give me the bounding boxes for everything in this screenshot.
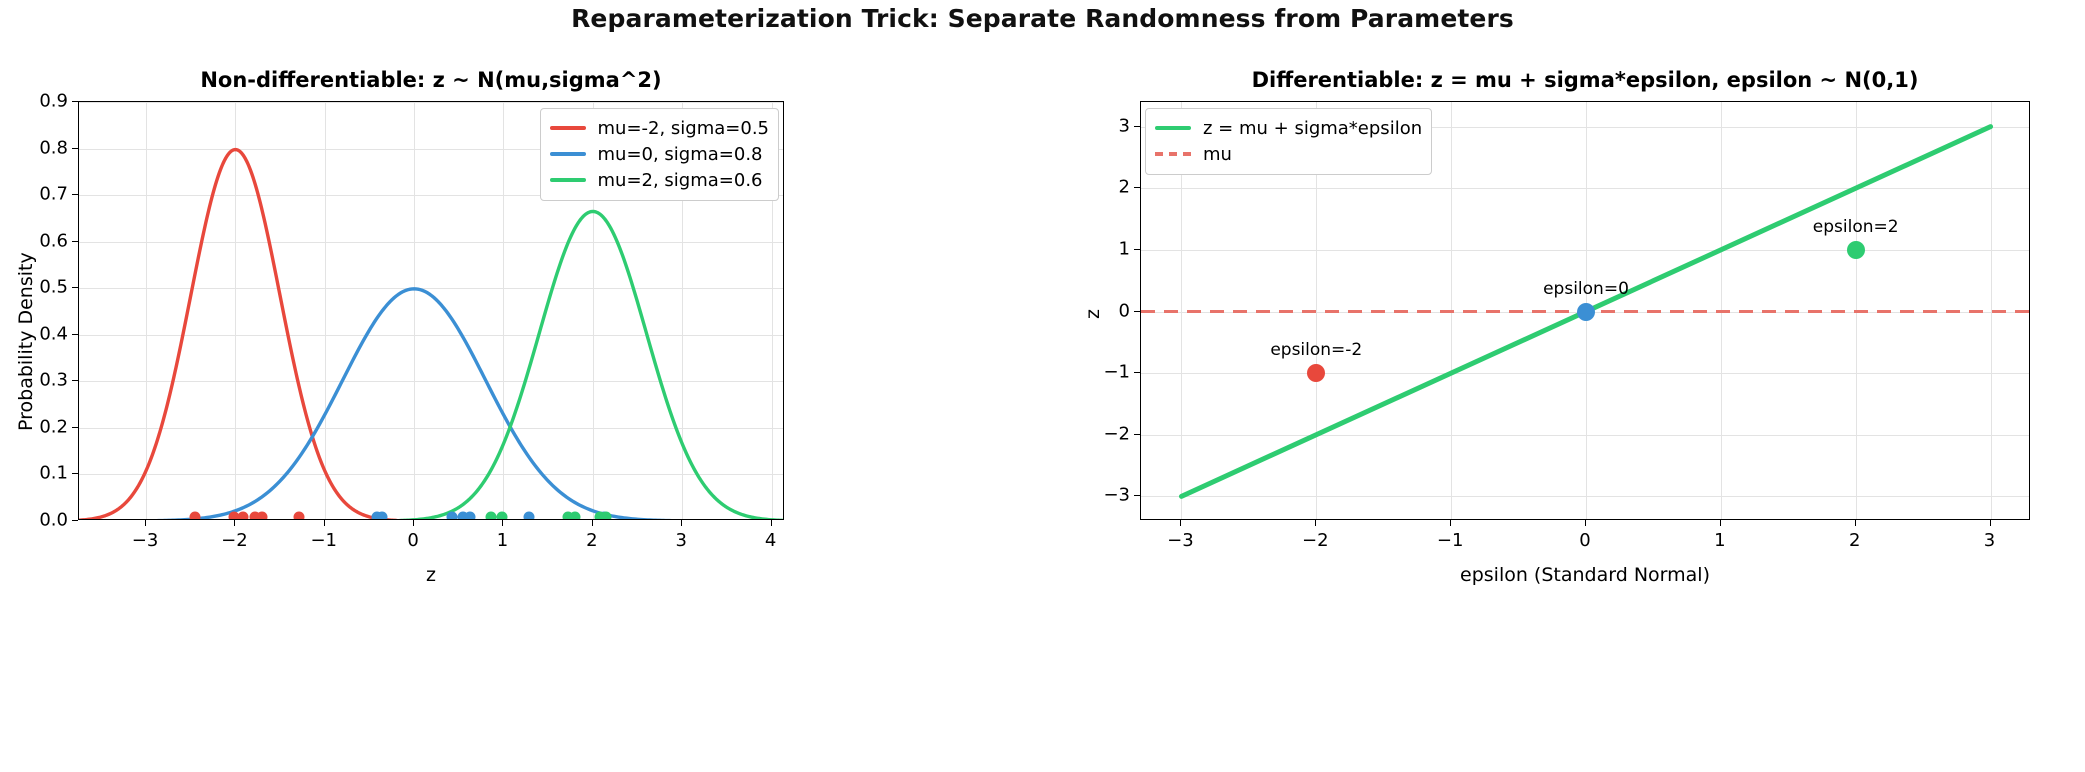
x-tick-label: −2 <box>221 530 248 551</box>
y-tick-label: 3 <box>1070 115 1130 136</box>
x-tick-label: 1 <box>497 530 508 551</box>
legend-item-red: mu=-2, sigma=0.5 <box>550 115 770 141</box>
y-tick-label: 2 <box>1070 177 1130 198</box>
x-tick <box>324 520 325 526</box>
x-tick-label: 0 <box>1579 530 1590 551</box>
x-tick <box>1720 520 1721 526</box>
y-tick-label: 0.9 <box>8 91 68 112</box>
x-tick-label: −1 <box>310 530 337 551</box>
epsilon-point-1 <box>1577 303 1595 321</box>
legend-label-blue: mu=0, sigma=0.8 <box>598 144 763 165</box>
left-panel-title: Non-differentiable: z ~ N(mu,sigma^2) <box>78 68 784 92</box>
sample-dot-red <box>190 512 201 520</box>
y-tick-label: 0.1 <box>8 463 68 484</box>
epsilon-annotation-0: epsilon=-2 <box>1270 340 1362 360</box>
y-tick-label: 0.6 <box>8 230 68 251</box>
y-tick <box>1134 495 1140 496</box>
epsilon-point-2 <box>1847 241 1865 259</box>
y-tick <box>72 194 78 195</box>
sample-dot-red <box>237 512 248 520</box>
y-tick-label: 0.8 <box>8 137 68 158</box>
sample-dot-blue <box>376 512 387 520</box>
x-tick <box>681 520 682 526</box>
legend-label-red: mu=-2, sigma=0.5 <box>598 118 770 139</box>
figure: Reparameterization Trick: Separate Rando… <box>0 0 2085 772</box>
legend-swatch-red <box>550 126 586 130</box>
sample-dot-green <box>496 512 507 520</box>
x-tick-label: −3 <box>1167 530 1194 551</box>
x-tick <box>502 520 503 526</box>
density-curve-blue <box>157 289 672 520</box>
sample-dot-green <box>569 512 580 520</box>
legend-item-mu: mu <box>1155 141 1422 167</box>
right-panel-title: Differentiable: z = mu + sigma*epsilon, … <box>1140 68 2030 92</box>
figure-suptitle: Reparameterization Trick: Separate Rando… <box>0 4 2085 33</box>
x-tick <box>771 520 772 526</box>
y-tick-label: −2 <box>1070 423 1130 444</box>
x-tick <box>1180 520 1181 526</box>
y-tick-label: −3 <box>1070 485 1130 506</box>
y-tick-label: 0.5 <box>8 277 68 298</box>
legend-item-line: z = mu + sigma*epsilon <box>1155 115 1422 141</box>
left-panel: Non-differentiable: z ~ N(mu,sigma^2) z … <box>78 101 784 520</box>
y-tick-label: 0.4 <box>8 323 68 344</box>
y-tick <box>72 380 78 381</box>
density-curve-green <box>400 211 784 520</box>
sample-dot-red <box>293 512 304 520</box>
x-tick <box>234 520 235 526</box>
y-tick <box>1134 311 1140 312</box>
left-legend: mu=-2, sigma=0.5 mu=0, sigma=0.8 mu=2, s… <box>540 108 780 201</box>
x-tick-label: −2 <box>1302 530 1329 551</box>
y-tick <box>72 334 78 335</box>
y-tick <box>1134 249 1140 250</box>
x-tick-label: 4 <box>765 530 776 551</box>
sample-dot-blue <box>446 512 457 520</box>
y-tick-label: 0 <box>1070 300 1130 321</box>
x-tick <box>1585 520 1586 526</box>
x-tick <box>1315 520 1316 526</box>
x-tick-label: 3 <box>675 530 686 551</box>
y-tick <box>1134 434 1140 435</box>
sample-dot-green <box>485 512 496 520</box>
y-tick-label: 0.3 <box>8 370 68 391</box>
left-xaxis-label: z <box>78 564 784 586</box>
y-tick <box>72 473 78 474</box>
sample-dot-blue <box>523 512 534 520</box>
y-tick-label: 0.0 <box>8 510 68 531</box>
right-panel: Differentiable: z = mu + sigma*epsilon, … <box>1140 101 2030 520</box>
x-tick-label: 1 <box>1714 530 1725 551</box>
x-tick <box>1990 520 1991 526</box>
x-tick-label: 2 <box>1849 530 1860 551</box>
sample-dot-green <box>601 512 612 520</box>
legend-swatch-blue <box>550 152 586 156</box>
legend-swatch-green <box>550 178 586 182</box>
legend-swatch-mu <box>1155 152 1191 156</box>
x-tick-label: 0 <box>407 530 418 551</box>
y-tick <box>72 241 78 242</box>
y-tick <box>72 427 78 428</box>
y-tick-label: 0.7 <box>8 184 68 205</box>
x-tick-label: −3 <box>132 530 159 551</box>
legend-label-green: mu=2, sigma=0.6 <box>598 170 763 191</box>
y-tick <box>72 287 78 288</box>
right-legend: z = mu + sigma*epsilon mu <box>1145 108 1432 175</box>
y-tick <box>1134 126 1140 127</box>
y-tick <box>72 101 78 102</box>
x-tick <box>1450 520 1451 526</box>
x-tick-label: 3 <box>1984 530 1995 551</box>
density-curve-red <box>78 150 396 520</box>
sample-dot-blue <box>464 512 475 520</box>
y-tick <box>1134 372 1140 373</box>
y-tick <box>72 148 78 149</box>
epsilon-point-0 <box>1307 364 1325 382</box>
x-tick <box>145 520 146 526</box>
x-tick <box>592 520 593 526</box>
legend-swatch-line <box>1155 126 1191 130</box>
right-xaxis-label: epsilon (Standard Normal) <box>1140 564 2030 586</box>
legend-item-green: mu=2, sigma=0.6 <box>550 167 770 193</box>
x-tick <box>1855 520 1856 526</box>
x-tick-label: −1 <box>1437 530 1464 551</box>
legend-label-line: z = mu + sigma*epsilon <box>1203 118 1422 139</box>
legend-label-mu: mu <box>1203 144 1232 165</box>
y-tick <box>1134 187 1140 188</box>
x-tick-label: 2 <box>586 530 597 551</box>
legend-item-blue: mu=0, sigma=0.8 <box>550 141 770 167</box>
epsilon-annotation-2: epsilon=2 <box>1813 217 1899 237</box>
y-tick-label: 0.2 <box>8 416 68 437</box>
sample-dot-red <box>257 512 268 520</box>
y-tick-label: 1 <box>1070 238 1130 259</box>
y-tick-label: −1 <box>1070 362 1130 383</box>
y-tick <box>72 520 78 521</box>
epsilon-annotation-1: epsilon=0 <box>1543 279 1629 299</box>
x-tick <box>413 520 414 526</box>
